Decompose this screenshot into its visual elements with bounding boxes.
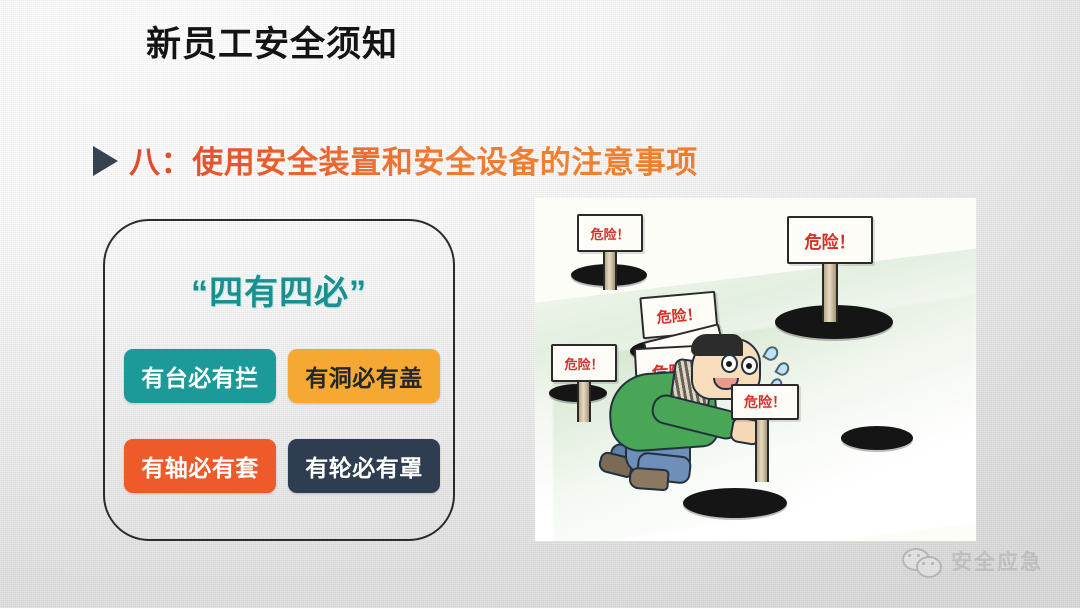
chip-shaft-sleeve[interactable]: 有轴必有套 [124, 439, 276, 493]
danger-sign: 危险！ [551, 344, 617, 422]
hole [841, 426, 913, 450]
watermark-text: 安全应急 [951, 546, 1043, 576]
watermark: 安全应急 [902, 546, 1043, 576]
danger-sign: 危险！ [577, 214, 643, 290]
danger-sign-label: 危险！ [787, 216, 873, 264]
section-heading-text: 八：使用安全装置和安全设备的注意事项 [129, 137, 698, 182]
wechat-icon [902, 546, 942, 576]
danger-sign-label: 危险！ [577, 214, 643, 252]
danger-sign-label: 危险！ [731, 384, 799, 420]
triangle-right-icon [93, 146, 118, 176]
slide: 新员工安全须知 八：使用安全装置和安全设备的注意事项 “四有四必” 有台必有拦 … [0, 0, 1080, 608]
danger-sign: 危险！ [787, 216, 873, 322]
chip-wheel-guard[interactable]: 有轮必有罩 [288, 439, 440, 493]
hole [683, 488, 787, 518]
page-title: 新员工安全须知 [146, 26, 398, 65]
chip-platform-railing[interactable]: 有台必有拦 [124, 349, 276, 403]
chip-hole-cover[interactable]: 有洞必有盖 [288, 349, 440, 403]
chip-grid: 有台必有拦 有洞必有盖 有轴必有套 有轮必有罩 [124, 349, 440, 493]
section-heading: 八：使用安全装置和安全设备的注意事项 [93, 137, 698, 182]
danger-sign: 危险！ [731, 384, 799, 482]
illustration-danger-signs: 危险！ 危险！ 危险！ 危险！ 危险！ 危险！ [535, 198, 976, 541]
danger-sign-label: 危险！ [551, 344, 617, 382]
four-have-four-must-panel: “四有四必” 有台必有拦 有洞必有盖 有轴必有套 有轮必有罩 [103, 219, 455, 541]
panel-title: “四有四必” [105, 265, 453, 314]
